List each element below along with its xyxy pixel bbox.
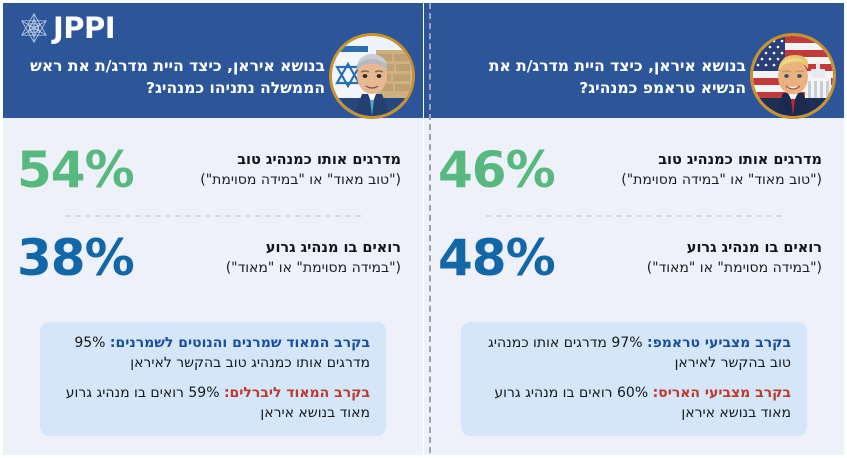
stat-row: רואים בו מנהיג גרוע ("במידה מסוימת" או "… [424,226,844,290]
stat-title: רואים בו מנהיג גרוע [157,239,401,258]
note-lead: בקרב המאוד ליברלים: [224,385,370,401]
stats-netanyahu: מדרגים אותו כמנהיג טוב ("טוב מאוד" או "ב… [3,118,423,315]
note-paragraph: בקרב מצביעי טראמפ: 97% מדרגים אותו כמנהי… [477,333,791,373]
note-paragraph: בקרב המאוד ליברלים: 59% רואים בו מנהיג ג… [56,383,370,423]
stat-divider [65,215,361,217]
stat-value: 38% [17,233,145,283]
stat-divider [486,215,782,217]
trump-portrait [750,33,836,119]
note-lead: בקרב המאוד שמרנים והנוטים לשמרנים: [110,335,370,351]
stats-trump: מדרגים אותו כמנהיג טוב ("טוב מאוד" או "ב… [424,118,844,315]
stat-title: מדרגים אותו כמנהיג טוב [157,151,401,170]
stat-value: 46% [438,145,566,195]
stat-subtitle: ("טוב מאוד" או "במידה מסוימת") [578,171,822,189]
stat-label: מדרגים אותו כמנהיג טוב ("טוב מאוד" או "ב… [566,151,822,189]
star-of-david-icon [17,11,51,45]
stat-subtitle: ("במידה מסוימת" או "מאוד") [157,259,401,277]
stat-title: מדרגים אותו כמנהיג טוב [578,151,822,170]
panel-trump: בנושא איראן, כיצד היית מדרג/ת את הנשיא ט… [424,3,844,455]
note-paragraph: בקרב מצביעי האריס: 60% רואים בו מנהיג גר… [477,383,791,423]
panel-netanyahu: JPPI בנושא איראן, כיצד היית מדרג/ת את רא… [3,3,423,455]
note-lead: בקרב מצביעי האריס: [653,385,791,401]
infographic-root: JPPI בנושא איראן, כיצד היית מדרג/ת את רא… [0,0,847,458]
stat-row: מדרגים אותו כמנהיג טוב ("טוב מאוד" או "ב… [3,131,423,209]
panel-header-netanyahu: JPPI בנושא איראן, כיצד היית מדרג/ת את רא… [3,3,423,118]
stat-value: 54% [17,145,145,195]
stat-label: רואים בו מנהיג גרוע ("במידה מסוימת" או "… [566,239,822,277]
jppi-logo: JPPI [17,11,115,45]
panel-question-trump: בנושא איראן, כיצד היית מדרג/ת את הנשיא ט… [446,55,746,99]
stat-label: מדרגים אותו כמנהיג טוב ("טוב מאוד" או "ב… [145,151,401,189]
stat-row: מדרגים אותו כמנהיג טוב ("טוב מאוד" או "ב… [424,131,844,209]
stat-row: רואים בו מנהיג גרוע ("במידה מסוימת" או "… [3,226,423,290]
stat-title: רואים בו מנהיג גרוע [578,239,822,258]
stat-label: רואים בו מנהיג גרוע ("במידה מסוימת" או "… [145,239,401,277]
panel-header-trump: בנושא איראן, כיצד היית מדרג/ת את הנשיא ט… [424,3,844,118]
note-lead: בקרב מצביעי טראמפ: [647,335,791,351]
netanyahu-portrait [329,33,415,119]
note-box-netanyahu: בקרב המאוד שמרנים והנוטים לשמרנים: 95% מ… [40,322,386,436]
note-box-trump: בקרב מצביעי טראמפ: 97% מדרגים אותו כמנהי… [461,322,807,436]
stat-value: 48% [438,233,566,283]
note-paragraph: בקרב המאוד שמרנים והנוטים לשמרנים: 95% מ… [56,333,370,373]
jppi-logo-text: JPPI [53,14,115,43]
stat-subtitle: ("במידה מסוימת" או "מאוד") [578,259,822,277]
panel-divider [429,3,431,453]
panel-question-netanyahu: בנושא איראן, כיצד היית מדרג/ת את ראש הממ… [25,55,325,99]
stat-subtitle: ("טוב מאוד" או "במידה מסוימת") [157,171,401,189]
